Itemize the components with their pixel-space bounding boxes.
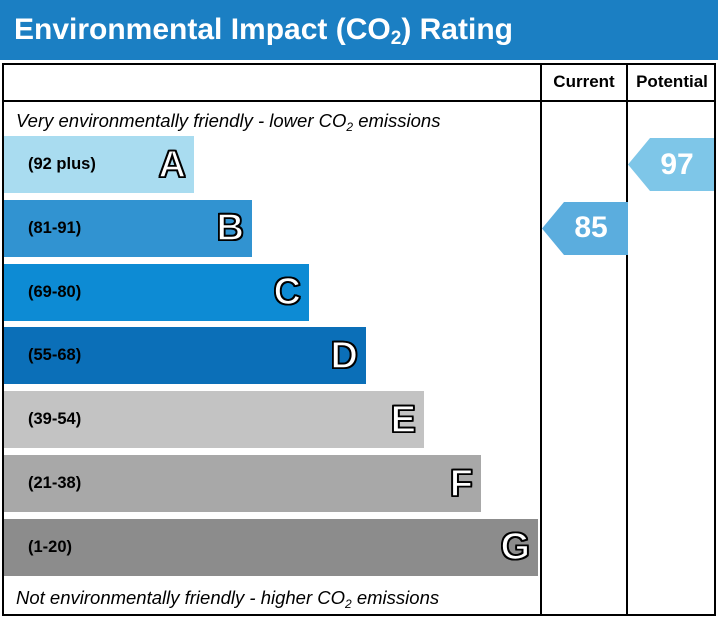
caption-top-prefix: Very environmentally friendly - lower CO	[16, 110, 346, 131]
rating-band-g: (1-20)G	[4, 519, 538, 576]
band-range-label: (81-91)	[4, 219, 81, 238]
title-prefix: Environmental Impact (CO	[14, 13, 391, 46]
rating-band-e: (39-54)E	[4, 391, 424, 448]
header-divider	[2, 100, 716, 102]
page-title: Environmental Impact (CO2) Rating	[0, 13, 513, 47]
caption-top: Very environmentally friendly - lower CO…	[16, 110, 440, 132]
caption-bottom: Not environmentally friendly - higher CO…	[16, 587, 439, 609]
band-letter-c: C	[274, 273, 301, 311]
band-range-label: (92 plus)	[4, 155, 96, 174]
rating-band-f: (21-38)F	[4, 455, 481, 512]
epc-environmental-impact-chart: Environmental Impact (CO2) Rating Curren…	[0, 0, 718, 619]
band-letter-b: B	[217, 209, 244, 247]
band-letter-f: F	[450, 465, 473, 503]
caption-top-subscript: 2	[346, 120, 353, 134]
band-letter-e: E	[391, 401, 416, 439]
band-range-label: (21-38)	[4, 474, 81, 493]
caption-top-suffix: emissions	[353, 110, 440, 131]
band-range-label: (69-80)	[4, 283, 81, 302]
rating-band-d: (55-68)D	[4, 327, 366, 384]
band-letter-g: G	[500, 528, 530, 566]
column-divider-current	[540, 63, 542, 616]
band-range-label: (39-54)	[4, 410, 81, 429]
band-letter-a: A	[159, 146, 186, 184]
caption-bottom-prefix: Not environmentally friendly - higher CO	[16, 587, 345, 608]
band-range-label: (55-68)	[4, 346, 81, 365]
title-subscript: 2	[391, 28, 402, 49]
band-letter-d: D	[331, 337, 358, 375]
caption-bottom-subscript: 2	[345, 597, 352, 611]
caption-bottom-suffix: emissions	[352, 587, 439, 608]
potential-rating-marker: 97	[628, 136, 714, 193]
title-suffix: ) Rating	[401, 13, 513, 46]
current-rating-marker: 85	[542, 200, 628, 257]
current-rating-value: 85	[562, 211, 607, 245]
rating-bands: (92 plus)A(81-91)B(69-80)C(55-68)D(39-54…	[4, 136, 540, 583]
chart-title-bar: Environmental Impact (CO2) Rating	[0, 0, 718, 60]
rating-band-c: (69-80)C	[4, 264, 309, 321]
rating-band-b: (81-91)B	[4, 200, 252, 257]
rating-band-a: (92 plus)A	[4, 136, 194, 193]
band-range-label: (1-20)	[4, 538, 72, 557]
column-header-potential: Potential	[628, 66, 716, 98]
column-header-current: Current	[542, 66, 626, 98]
potential-rating-value: 97	[648, 148, 693, 182]
